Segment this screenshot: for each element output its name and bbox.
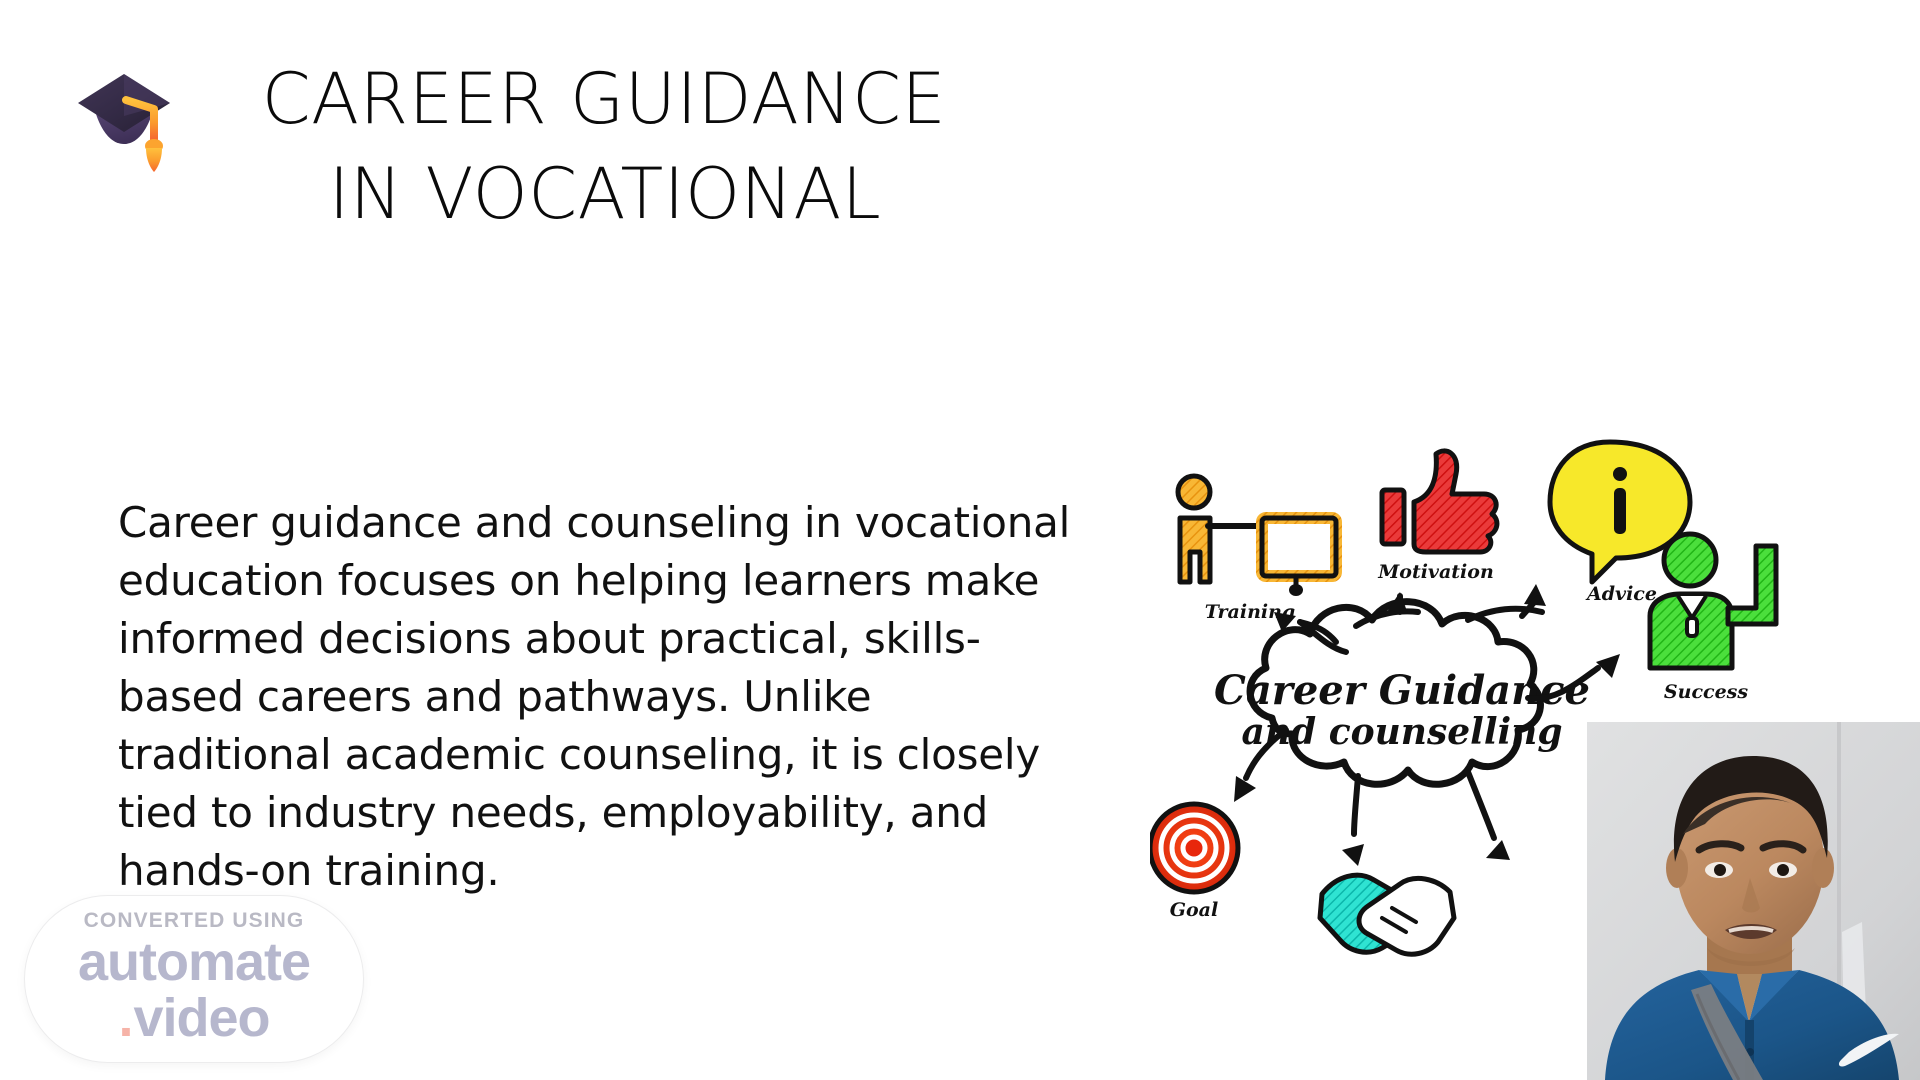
node-success-icon xyxy=(1650,534,1776,668)
node-label-goal: Goal xyxy=(1170,899,1218,921)
title-block: CAREER GUIDANCE IN VOCATIONAL xyxy=(60,30,1060,260)
cloud-label-line-1: Career Guidance xyxy=(1214,667,1590,714)
watermark-tld: video xyxy=(133,988,269,1048)
node-handshake-icon xyxy=(1320,875,1454,954)
presentation-slide: CAREER GUIDANCE IN VOCATIONAL Career gui… xyxy=(0,0,1920,1080)
node-label-advice: Advice xyxy=(1585,583,1657,605)
node-label-training: Training xyxy=(1205,601,1295,623)
node-training-icon xyxy=(1178,476,1336,596)
watermark-brand: automate xyxy=(24,935,364,990)
node-label-motivation: Motivation xyxy=(1377,561,1494,583)
title-line-1: CAREER GUIDANCE xyxy=(98,52,1060,147)
node-label-success: Success xyxy=(1664,681,1748,703)
watermark-caption: CONVERTED USING xyxy=(24,909,364,933)
node-goal-icon xyxy=(1150,804,1238,892)
title-line-2: IN VOCATIONAL xyxy=(100,147,1060,242)
watermark-dot: . xyxy=(118,988,133,1048)
cloud-label-line-2: and counselling xyxy=(1241,711,1562,753)
page-title: CAREER GUIDANCE IN VOCATIONAL xyxy=(210,52,1060,242)
automate-video-watermark: CONVERTED USING automate .video xyxy=(24,895,364,1063)
body-paragraph: Career guidance and counseling in vocati… xyxy=(118,494,1098,900)
watermark-tld-row: .video xyxy=(24,991,364,1046)
presenter-video-overlay[interactable] xyxy=(1587,722,1920,1080)
node-motivation-icon xyxy=(1382,451,1497,552)
